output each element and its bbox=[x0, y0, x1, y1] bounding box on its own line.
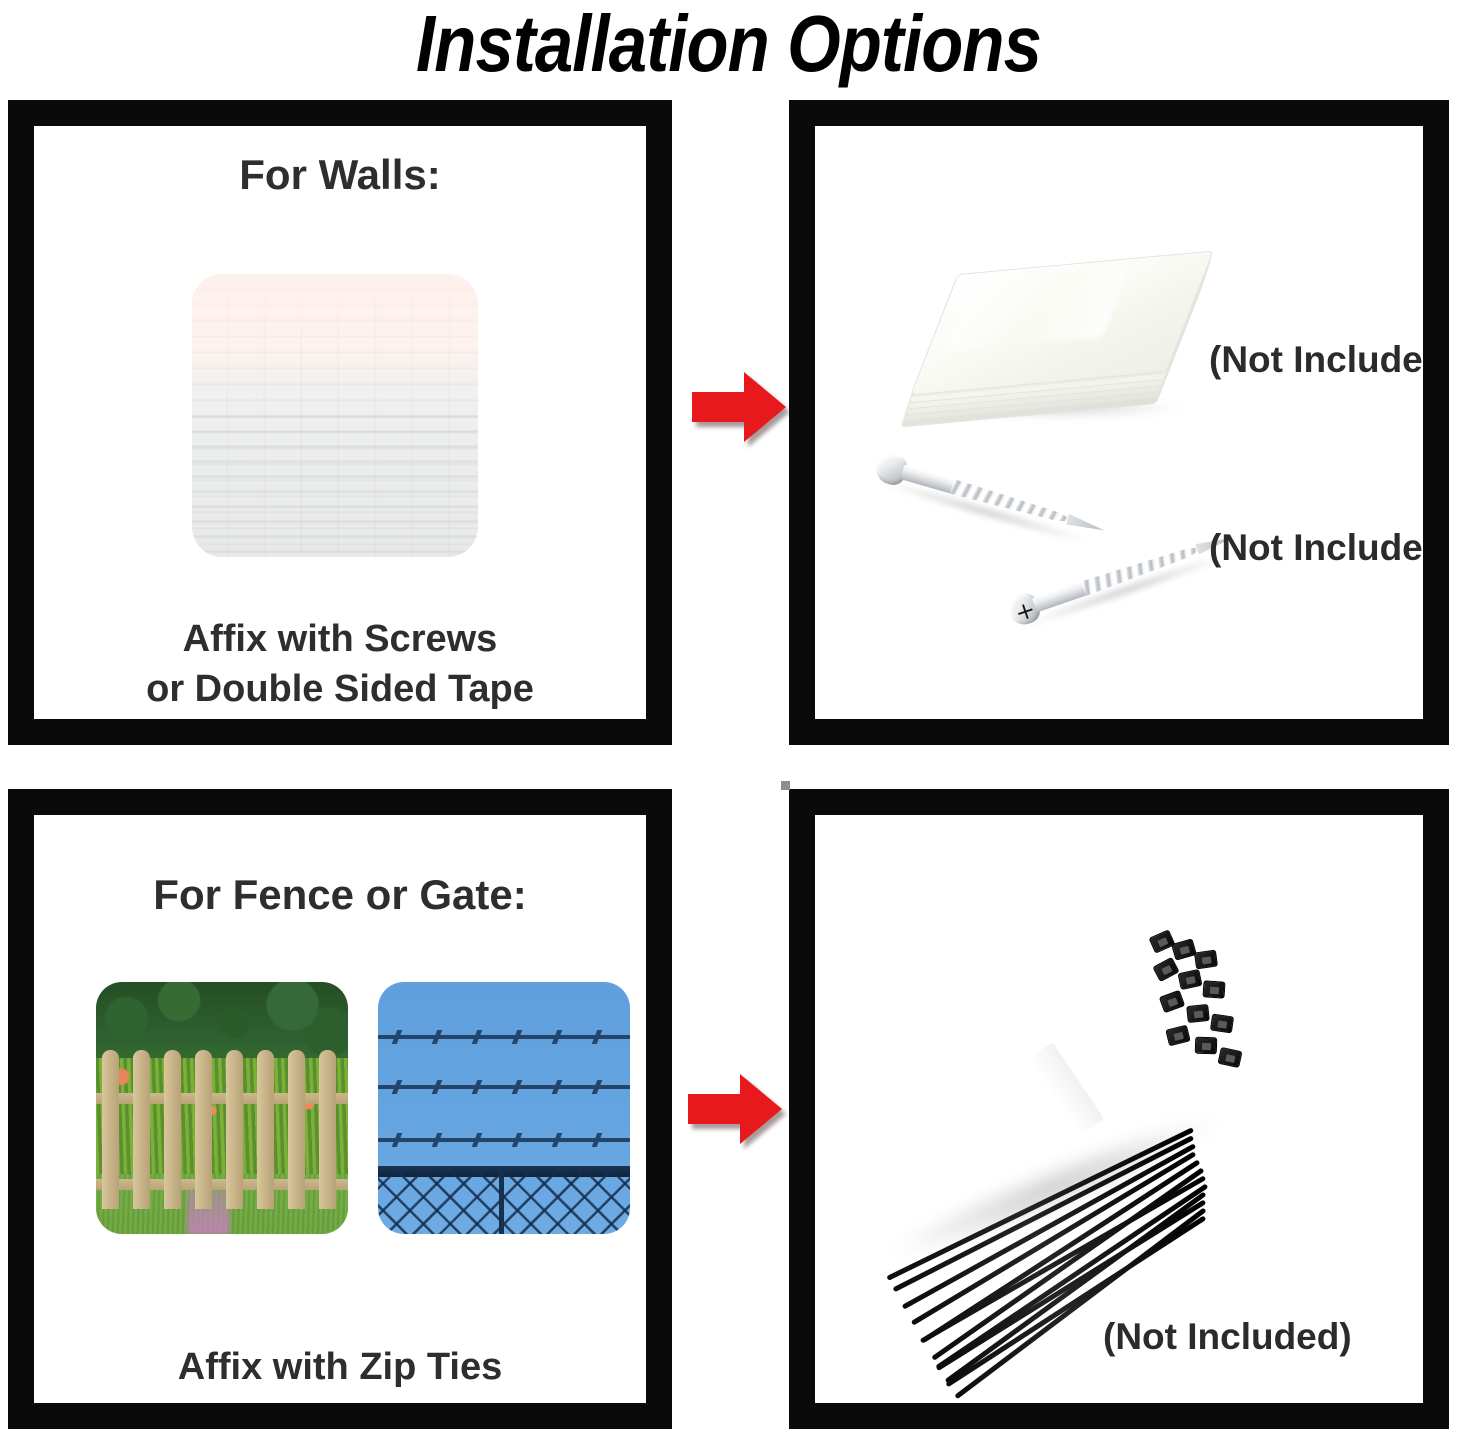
zip-tie-head bbox=[1171, 938, 1197, 960]
zip-tie bbox=[902, 1143, 1197, 1309]
zip-tie-head bbox=[1177, 969, 1202, 990]
barbed-wire-strand bbox=[378, 1085, 630, 1089]
fence-picket bbox=[133, 1050, 150, 1209]
fence-picket bbox=[195, 1050, 212, 1209]
zip-tie-head bbox=[1194, 950, 1218, 970]
page-title: Installation Options bbox=[102, 0, 1355, 92]
screws-not-included-label: (Not Included) bbox=[1209, 526, 1423, 570]
barbed-wire-strand bbox=[378, 1035, 630, 1039]
tape-not-included-label: (Not Included) bbox=[1209, 338, 1423, 382]
picket-fence-image bbox=[96, 982, 348, 1234]
for-walls-caption-line2: or Double Sided Tape bbox=[34, 664, 646, 714]
panel-for-walls: For Walls: Affix with Screws or Double S… bbox=[8, 100, 672, 745]
zip-ties-bundle bbox=[855, 915, 1285, 1295]
fence-picket bbox=[257, 1050, 274, 1209]
for-fence-caption: Affix with Zip Ties bbox=[34, 1342, 646, 1392]
fence-picket bbox=[319, 1050, 336, 1209]
panel-zip-ties-inner: (Not Included) bbox=[815, 815, 1423, 1403]
zip-tie-head bbox=[1195, 1037, 1218, 1055]
double-sided-tape-image bbox=[903, 248, 1203, 426]
brick-warm-highlight bbox=[192, 274, 478, 393]
screw-shadow bbox=[875, 475, 1094, 548]
phillips-cross-icon bbox=[1016, 602, 1035, 621]
panel-for-fence-or-gate-inner: For Fence or Gate: bbox=[34, 815, 646, 1403]
zip-tie-head bbox=[1159, 990, 1185, 1013]
chain-link-mesh bbox=[378, 1171, 630, 1234]
barbed-wire-strand bbox=[378, 1138, 630, 1142]
for-fence-heading: For Fence or Gate: bbox=[34, 870, 646, 920]
zip-tie-head bbox=[1217, 1047, 1242, 1068]
fence-picket bbox=[102, 1050, 119, 1209]
panel-wall-hardware-inner: (Not Included) (Not In bbox=[815, 126, 1423, 719]
fence-post bbox=[499, 1166, 504, 1234]
zip-tie-head bbox=[1210, 1014, 1234, 1034]
wood-screw-image bbox=[870, 449, 1113, 557]
panel-for-walls-inner: For Walls: Affix with Screws or Double S… bbox=[34, 126, 646, 719]
zip-ties-not-included-label: (Not Included) bbox=[1103, 1315, 1352, 1359]
stray-artifact-mark bbox=[781, 781, 790, 790]
fence-picket bbox=[288, 1050, 305, 1209]
zip-tie-head bbox=[1152, 957, 1179, 982]
brick-wall-image bbox=[192, 274, 478, 557]
zip-ties-binding-band bbox=[1028, 1042, 1104, 1135]
fence-picket bbox=[226, 1050, 243, 1209]
zip-tie-head bbox=[1202, 980, 1225, 998]
screw-shadow bbox=[1017, 549, 1233, 633]
panel-for-fence-or-gate: For Fence or Gate: bbox=[8, 789, 672, 1429]
for-walls-heading: For Walls: bbox=[34, 150, 646, 200]
fence-picket bbox=[164, 1050, 181, 1209]
infographic-page: Installation Options For Walls: Affix wi… bbox=[0, 0, 1457, 1434]
chain-link-fence-image bbox=[378, 982, 630, 1234]
panel-wall-hardware: (Not Included) (Not In bbox=[789, 100, 1449, 745]
panel-zip-ties: (Not Included) bbox=[789, 789, 1449, 1429]
red-right-arrow-icon bbox=[692, 370, 786, 444]
red-right-arrow-icon bbox=[688, 1072, 782, 1146]
zip-ties-image bbox=[855, 915, 1285, 1295]
zip-tie-head bbox=[1186, 1004, 1210, 1023]
zip-tie-head bbox=[1165, 1025, 1190, 1047]
for-walls-caption-line1: Affix with Screws bbox=[34, 614, 646, 664]
zip-tie-head bbox=[1148, 929, 1175, 953]
